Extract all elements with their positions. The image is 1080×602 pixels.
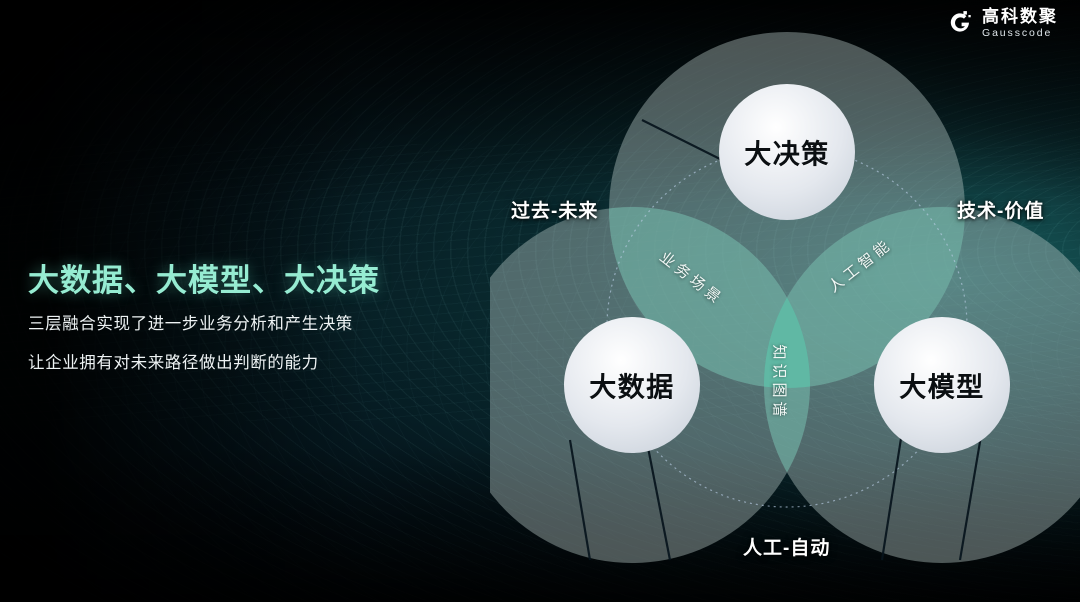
- venn-axis-label-tech-value: 技术-价值: [957, 196, 1044, 223]
- venn-axis-label-manual-auto: 人工-自动: [743, 533, 830, 560]
- subline-1: 三层融合实现了进一步业务分析和产生决策: [28, 316, 458, 333]
- subline-2: 让企业拥有对未来路径做出判断的能力: [28, 355, 458, 372]
- venn-diagram: 大决策 大数据 大模型 业务场景 人工智能 知识图谱: [490, 0, 1080, 602]
- headline: 大数据、大模型、大决策: [28, 255, 458, 300]
- venn-overlap-label-knowledge-graph: 知识图谱: [770, 345, 791, 421]
- venn-core-label-decision: 大决策: [744, 133, 830, 172]
- copy-block: 大数据、大模型、大决策 三层融合实现了进一步业务分析和产生决策 让企业拥有对未来…: [28, 255, 458, 373]
- venn-core-label-bigmodel: 大模型: [899, 366, 985, 405]
- slide-root: 高科数聚 Gausscode 大数据、大模型、大决策 三层融合实现了进一步业务分…: [0, 0, 1080, 602]
- venn-axis-label-past-future: 过去-未来: [511, 196, 598, 223]
- venn-core-label-bigdata: 大数据: [589, 366, 675, 405]
- venn-svg: [490, 0, 1080, 602]
